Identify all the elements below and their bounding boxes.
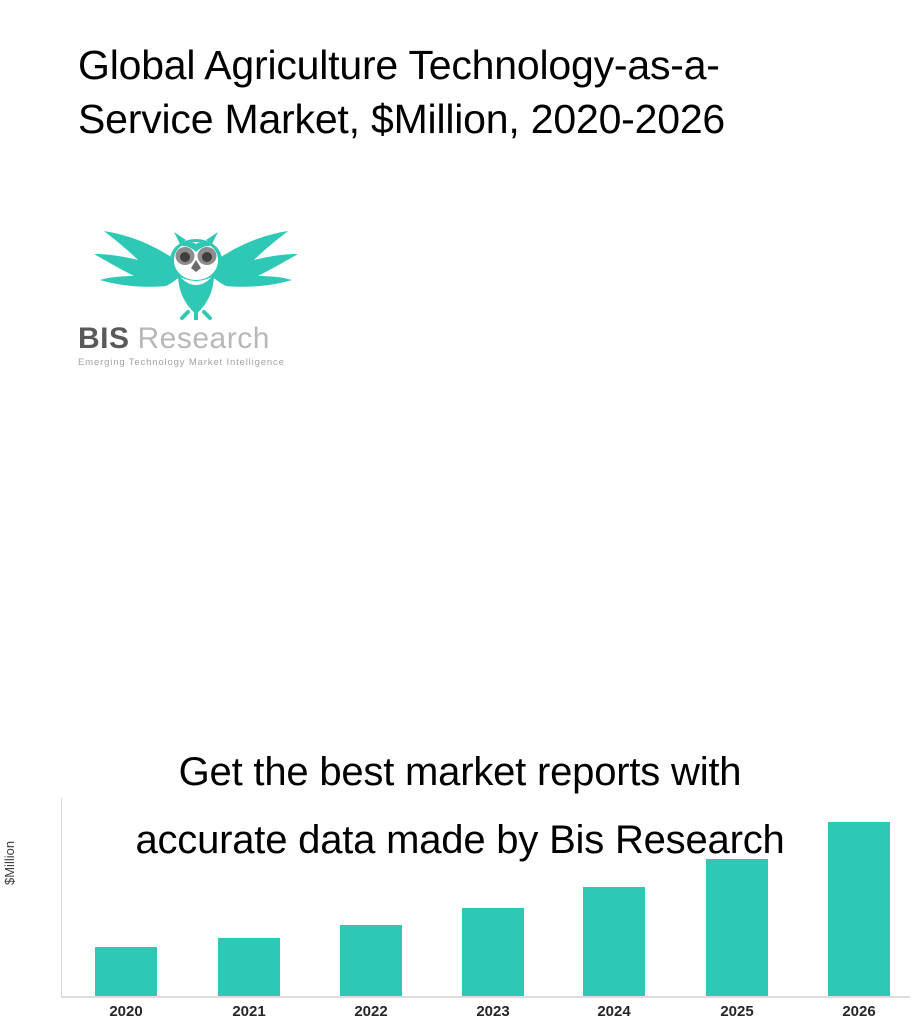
x-tick-label-2023: 2023 [448,1003,538,1020]
bar-2024 [583,887,645,996]
bar-2025 [706,859,768,996]
x-tick-label-2020: 2020 [81,1003,171,1020]
promo-caption-line-1: Get the best market reports with [0,738,920,806]
bar-2020 [95,947,157,996]
bar-chart: $Million 2020202120222023202420252026 [0,395,920,640]
logo-tagline: Emerging Technology Market Intelligence [78,357,314,368]
x-axis-line [61,996,910,998]
x-tick-label-2021: 2021 [204,1003,294,1020]
bar-2021 [218,938,280,996]
logo-wordmark: BISResearch [78,324,314,354]
x-tick-label-2022: 2022 [326,1003,416,1020]
promo-caption-line-2: accurate data made by Bis Research [0,806,920,874]
x-axis-tick-labels: 2020202120222023202420252026 [0,1003,920,1027]
page-title-line-2: Service Market, $Million, 2020-2026 [78,92,878,146]
x-tick-label-2026: 2026 [814,1003,904,1020]
page-title-line-1: Global Agriculture Technology-as-a- [78,38,878,92]
bar-2023 [462,908,524,996]
promo-caption: Get the best market reports with accurat… [0,738,920,874]
logo-wordmark-bis: BIS [78,322,130,355]
page-title: Global Agriculture Technology-as-a- Serv… [78,38,878,146]
x-tick-label-2025: 2025 [692,1003,782,1020]
owl-icon [78,228,314,320]
bis-research-logo: BISResearch Emerging Technology Market I… [78,228,314,380]
logo-wordmark-research: Research [138,322,270,355]
x-tick-label-2024: 2024 [569,1003,659,1020]
bar-2022 [340,925,402,996]
